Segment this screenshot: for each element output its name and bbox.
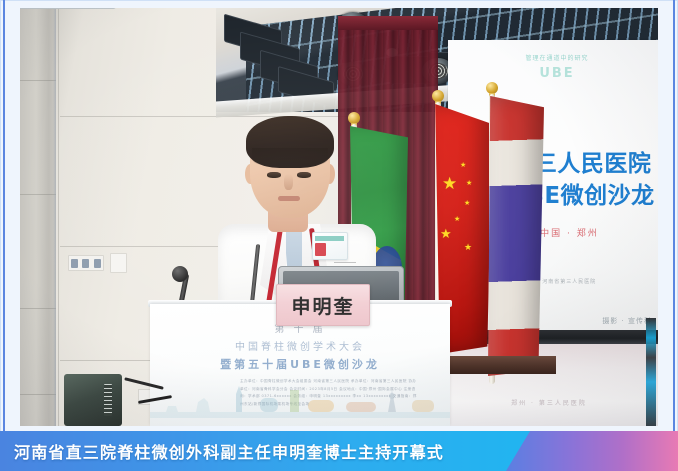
podium-skyline-graphic bbox=[150, 384, 450, 418]
china-flag-star: ★ bbox=[464, 200, 470, 207]
event-photograph: 管理在通道中的研究 UBE · 南 · 第三人民医院 五 · UBE微创沙龙 五… bbox=[20, 8, 658, 426]
wall-switch-triple[interactable] bbox=[68, 255, 104, 271]
coat-pocket-stitch bbox=[334, 262, 356, 263]
microphone-head bbox=[172, 266, 188, 282]
hair bbox=[246, 116, 334, 168]
china-flag-finial bbox=[432, 90, 444, 102]
wall-switch-single[interactable] bbox=[110, 253, 127, 273]
frame-accent-left bbox=[3, 0, 5, 471]
mouth bbox=[278, 196, 300, 201]
china-flag-star: ★ bbox=[454, 216, 460, 223]
name-plate: 申明奎 bbox=[276, 284, 370, 326]
lower-backdrop-text: 郑州 · 第三人民医院 bbox=[440, 398, 658, 407]
screen-credit: 摄影 · 宣传科 bbox=[602, 316, 652, 326]
podium-line3: 暨第五十届UBE微创沙龙 bbox=[150, 356, 450, 372]
thailand-flag bbox=[488, 96, 544, 376]
caption-gradient-purple bbox=[506, 431, 678, 471]
screen-logo-big: UBE bbox=[502, 64, 612, 85]
screenshot-root: 管理在通道中的研究 UBE · 南 · 第三人民医院 五 · UBE微创沙龙 五… bbox=[0, 0, 678, 471]
side-display-strip bbox=[646, 318, 656, 426]
stone-column bbox=[20, 8, 56, 426]
frame-accent-right bbox=[673, 0, 675, 471]
china-flag-star: ★ bbox=[440, 228, 452, 241]
screen-logo: 管理在通道中的研究 UBE bbox=[502, 54, 612, 88]
eye-right bbox=[297, 172, 311, 178]
curtain-valance bbox=[338, 16, 438, 30]
wall-seam bbox=[58, 8, 59, 426]
china-flag-star: ★ bbox=[464, 244, 472, 253]
hospital-id-badge bbox=[312, 232, 348, 260]
caption-bar: 河南省直三院脊柱微创外科副主任申明奎博士主持开幕式 bbox=[0, 431, 678, 471]
nameplate-holder-bar bbox=[20, 8, 116, 9]
name-plate-text: 申明奎 bbox=[277, 292, 369, 319]
floor-speaker bbox=[64, 374, 122, 426]
thailand-flag-finial bbox=[486, 82, 498, 94]
nose bbox=[284, 174, 293, 190]
china-flag-star: ★ bbox=[442, 176, 457, 193]
eye-left bbox=[267, 172, 281, 178]
podium-line2: 中国脊柱微创学术大会 bbox=[150, 338, 450, 353]
caption-text: 河南省直三院脊柱微创外科副主任申明奎博士主持开幕式 bbox=[14, 431, 444, 471]
china-flag-star: ★ bbox=[466, 180, 472, 187]
screen-logo-small: 管理在通道中的研究 bbox=[525, 55, 588, 62]
china-flag-star: ★ bbox=[460, 162, 466, 169]
